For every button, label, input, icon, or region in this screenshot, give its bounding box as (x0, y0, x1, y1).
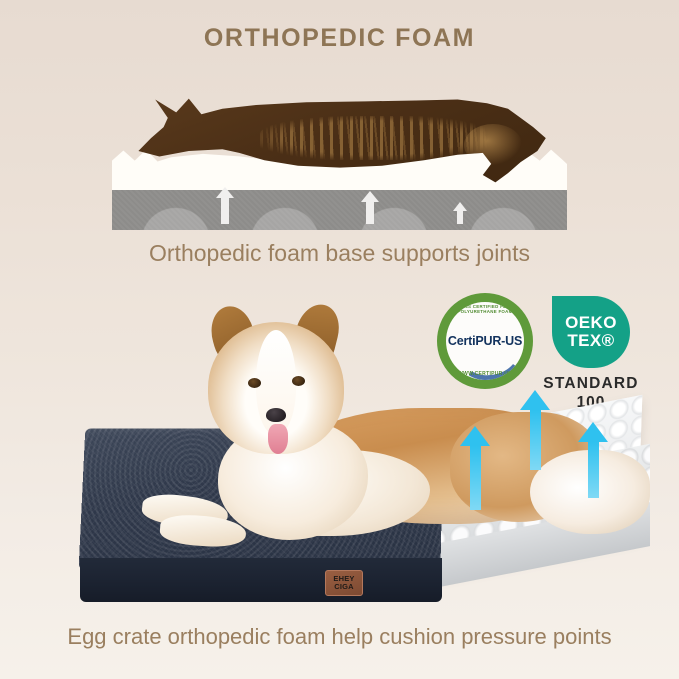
page-title: ORTHOPEDIC FOAM (0, 24, 679, 53)
caption-egg-crate: Egg crate orthopedic foam help cushion p… (0, 624, 679, 650)
dog-eye-right (292, 376, 305, 386)
dog-nose (266, 408, 286, 422)
airflow-arrow-2-icon (520, 390, 550, 470)
product-infographic-poster: ORTHOPEDIC FOAM Orthopedic foam base sup… (0, 0, 679, 679)
support-arrow-1-icon (216, 187, 234, 224)
support-arrow-3-icon (451, 202, 469, 224)
orthopedic-support-diagram (112, 88, 567, 230)
caption-orthopedic-support: Orthopedic foam base supports joints (0, 240, 679, 267)
product-photo-scene: EHEY CIGA (0, 300, 679, 630)
spine-skeleton-icon (260, 116, 490, 160)
support-arrow-2-icon (361, 191, 379, 224)
brand-logo-tag: EHEY CIGA (325, 570, 363, 596)
brand-tag-line2: CIGA (334, 583, 354, 591)
dog-eye-left (248, 378, 261, 388)
airflow-arrow-1-icon (460, 426, 490, 510)
airflow-arrow-3-icon (578, 422, 608, 498)
dog-photo (100, 300, 580, 570)
dog-tongue (268, 424, 288, 454)
